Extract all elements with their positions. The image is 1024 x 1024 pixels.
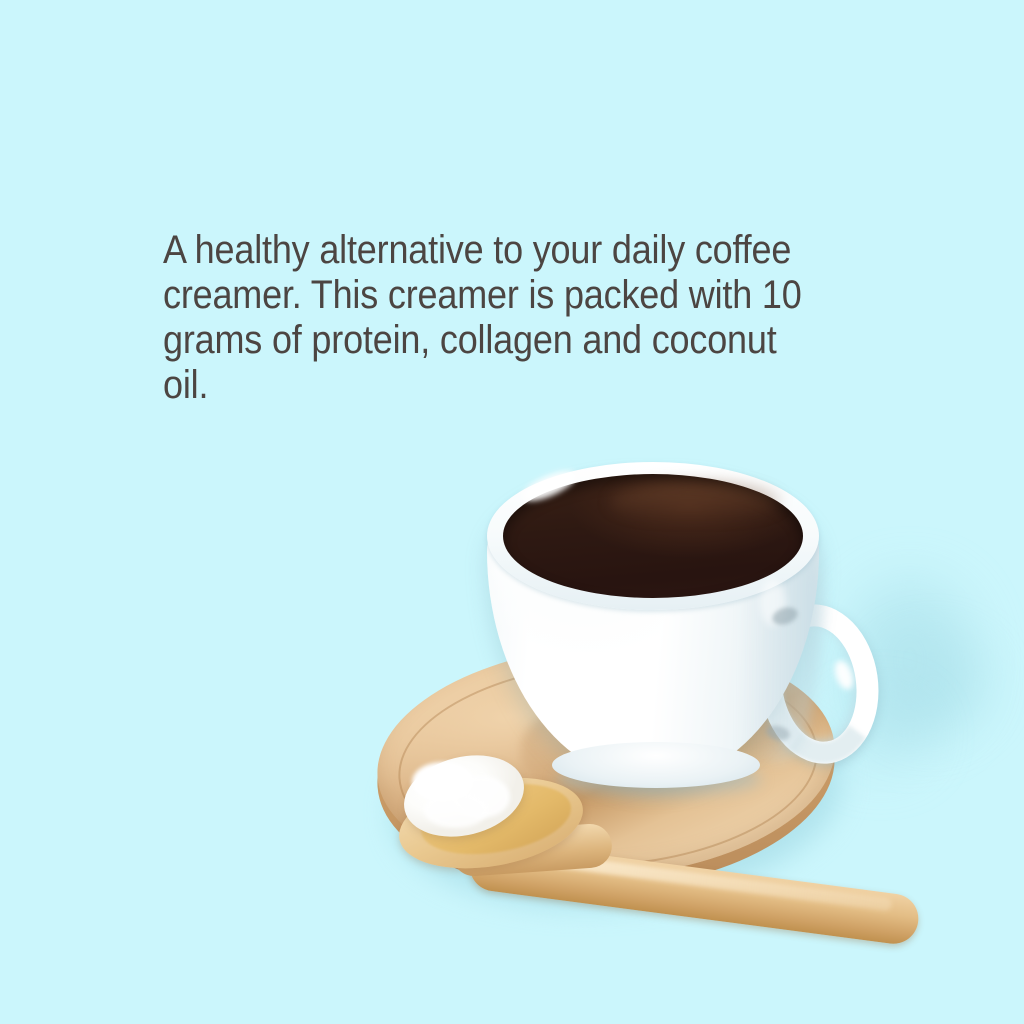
product-photo [0, 0, 1024, 1024]
cup-base [552, 742, 760, 788]
poster-canvas: A healthy alternative to your daily coff… [0, 0, 1024, 1024]
creamer-powder-lump [424, 792, 488, 828]
coffee-surface-sheen [610, 482, 780, 522]
headline-text: A healthy alternative to your daily coff… [163, 228, 802, 408]
